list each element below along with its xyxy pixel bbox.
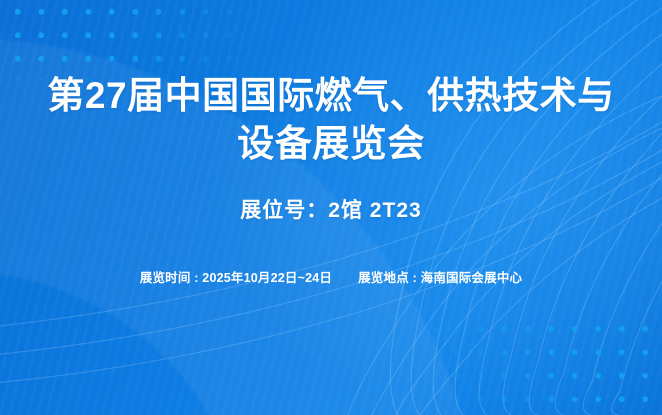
event-meta: 展览时间 : 2025年10月22日~24日 展览地点 : 海南国际会展中心 — [140, 267, 522, 286]
booth-number: 展位号：2馆 2T23 — [240, 194, 421, 224]
event-title-line-1: 第27届中国国际燃气、供热技术与 — [31, 72, 631, 120]
exhibition-banner: 第27届中国国际燃气、供热技术与 设备展览会 展位号：2馆 2T23 展览时间 … — [0, 0, 662, 415]
event-title: 第27届中国国际燃气、供热技术与 设备展览会 — [31, 0, 631, 168]
event-venue: 展览地点 : 海南国际会展中心 — [358, 267, 522, 286]
banner-content: 第27届中国国际燃气、供热技术与 设备展览会 展位号：2馆 2T23 展览时间 … — [0, 0, 662, 415]
event-title-line-2: 设备展览会 — [31, 120, 631, 168]
event-date: 展览时间 : 2025年10月22日~24日 — [140, 267, 332, 286]
